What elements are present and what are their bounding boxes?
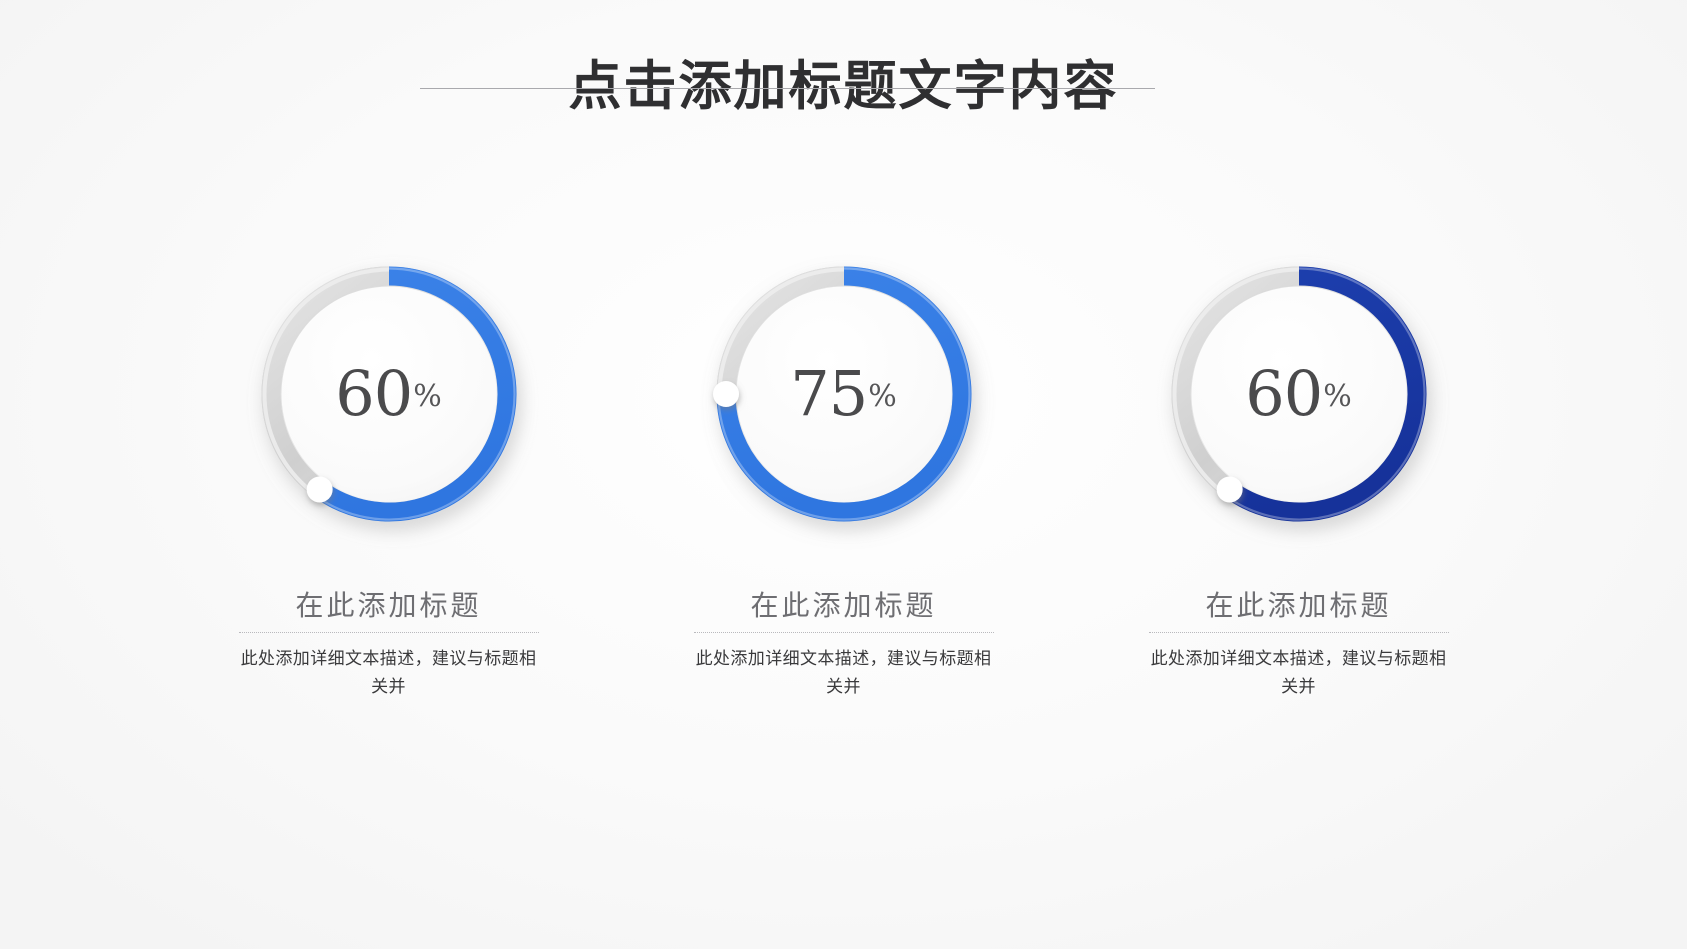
- caption-body: 此处添加详细文本描述，建议与标题相关并: [694, 646, 994, 701]
- caption-heading: 在此添加标题: [1149, 588, 1449, 633]
- caption-body: 此处添加详细文本描述，建议与标题相关并: [239, 646, 539, 701]
- gauge-caption-3: 在此添加标题此处添加详细文本描述，建议与标题相关并: [1149, 588, 1449, 701]
- gauge-knob[interactable]: [713, 381, 739, 407]
- gauge-columns: 60%在此添加标题此处添加详细文本描述，建议与标题相关并75%在此添加标题此处添…: [0, 248, 1687, 701]
- caption-heading: 在此添加标题: [239, 588, 539, 633]
- gauge-column-3: 60%在此添加标题此处添加详细文本描述，建议与标题相关并: [1071, 248, 1526, 701]
- caption-body: 此处添加详细文本描述，建议与标题相关并: [1149, 646, 1449, 701]
- gauge-2[interactable]: 75%: [698, 248, 990, 540]
- caption-heading: 在此添加标题: [694, 588, 994, 633]
- title-underline-rule: [420, 88, 1155, 89]
- gauge-1[interactable]: 60%: [243, 248, 535, 540]
- gauge-caption-2: 在此添加标题此处添加详细文本描述，建议与标题相关并: [694, 588, 994, 701]
- gauge-knob[interactable]: [306, 476, 332, 502]
- gauge-inner-dish: [736, 287, 951, 502]
- gauge-inner-dish: [1191, 287, 1406, 502]
- gauge-caption-1: 在此添加标题此处添加详细文本描述，建议与标题相关并: [239, 588, 539, 701]
- gauge-3[interactable]: 60%: [1153, 248, 1445, 540]
- gauge-column-2: 75%在此添加标题此处添加详细文本描述，建议与标题相关并: [616, 248, 1071, 701]
- gauge-column-1: 60%在此添加标题此处添加详细文本描述，建议与标题相关并: [161, 248, 616, 701]
- gauge-knob[interactable]: [1216, 476, 1242, 502]
- gauge-inner-dish: [281, 287, 496, 502]
